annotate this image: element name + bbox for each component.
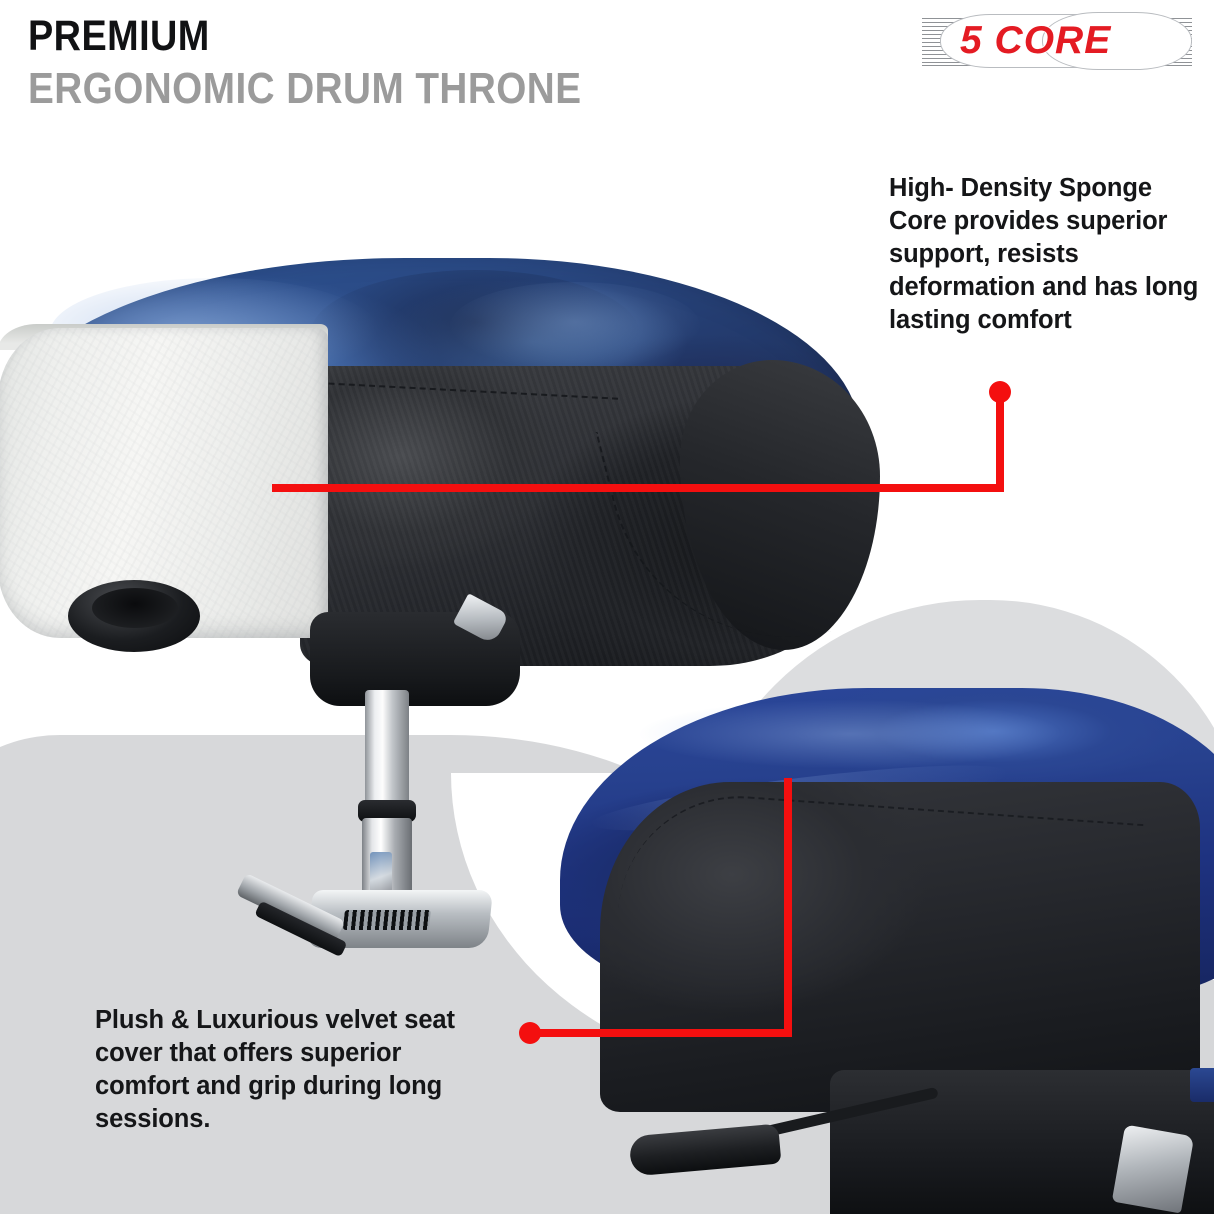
callout-velvet-cover-vertical-line (784, 778, 792, 1033)
inset-velvet-rear-edge (1190, 1068, 1214, 1102)
callout-sponge-core-text: High- Density Sponge Core provides super… (889, 172, 1201, 337)
inset-product-photo (500, 630, 1214, 1214)
velvet-highlight-right (450, 282, 700, 370)
infographic-canvas: PREMIUM ERGONOMIC DRUM THRONE 5 CORE Hig… (0, 0, 1214, 1214)
callout-velvet-cover-horizontal-line (530, 1029, 792, 1037)
page-subtitle: ERGONOMIC DRUM THRONE (28, 64, 581, 114)
callout-velvet-cover-text: Plush & Luxurious velvet seat cover that… (95, 1004, 495, 1136)
header-block: PREMIUM ERGONOMIC DRUM THRONE (28, 12, 657, 114)
callout-sponge-core-horizontal-line (272, 484, 1004, 492)
chrome-post-upper (365, 690, 409, 810)
mount-knob-inner (92, 588, 178, 628)
callout-sponge-core-vertical-line (996, 390, 1004, 492)
brand-logo: 5 CORE (922, 12, 1192, 70)
height-lever-grip (629, 1124, 782, 1177)
page-title: PREMIUM (28, 12, 581, 60)
inset-velvet-highlight (640, 700, 1060, 768)
logo-text: 5 CORE (960, 18, 1190, 64)
inset-metal-bracket (1112, 1125, 1194, 1214)
